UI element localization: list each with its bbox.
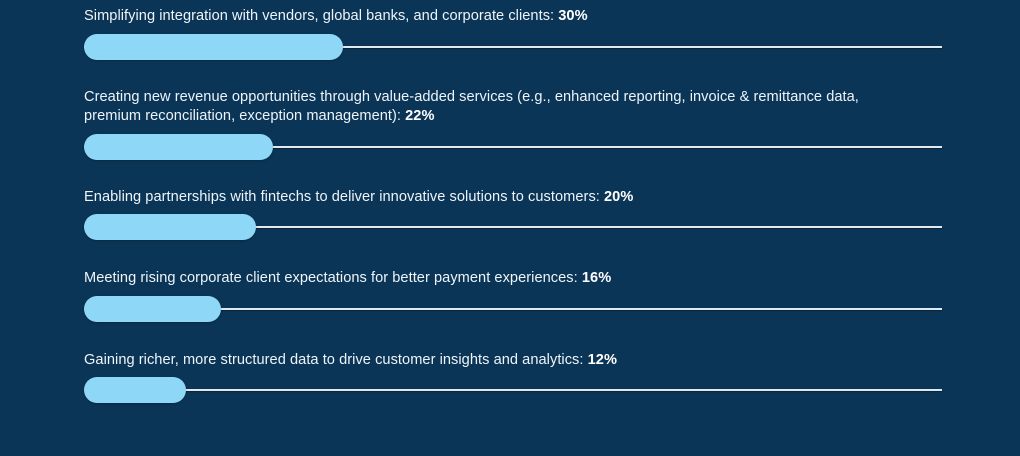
bar-track-wrap bbox=[84, 377, 942, 403]
bar-track-wrap bbox=[84, 214, 942, 240]
bar-fill bbox=[84, 296, 221, 322]
bar-label-text: Gaining richer, more structured data to … bbox=[84, 352, 588, 368]
bar-item: Creating new revenue opportunities throu… bbox=[84, 88, 942, 160]
bar-track-wrap bbox=[84, 34, 942, 60]
bar-item: Meeting rising corporate client expectat… bbox=[84, 269, 942, 322]
bar-label: Enabling partnerships with fintechs to d… bbox=[84, 188, 942, 208]
bar-track-wrap bbox=[84, 134, 942, 160]
bar-label: Gaining richer, more structured data to … bbox=[84, 351, 942, 371]
bar-label-text: Meeting rising corporate client expectat… bbox=[84, 270, 582, 286]
bar-item: Simplifying integration with vendors, gl… bbox=[84, 7, 942, 60]
bar-value-label: 30% bbox=[558, 8, 587, 24]
bar-value-label: 12% bbox=[588, 352, 617, 368]
bar-fill bbox=[84, 34, 343, 60]
bar-value-label: 20% bbox=[604, 189, 633, 205]
bar-list: Simplifying integration with vendors, gl… bbox=[84, 0, 942, 403]
bar-value-label: 22% bbox=[405, 108, 434, 124]
bar-track bbox=[84, 389, 942, 391]
bar-track-wrap bbox=[84, 296, 942, 322]
bar-item: Gaining richer, more structured data to … bbox=[84, 351, 942, 404]
bar-fill bbox=[84, 134, 273, 160]
horizontal-bar-chart: Simplifying integration with vendors, gl… bbox=[0, 0, 1020, 456]
bar-fill bbox=[84, 214, 256, 240]
bar-label: Meeting rising corporate client expectat… bbox=[84, 269, 942, 289]
bar-label-text: Enabling partnerships with fintechs to d… bbox=[84, 189, 604, 205]
bar-label-text-line2: premium reconciliation, exception manage… bbox=[84, 108, 405, 124]
bar-label: Simplifying integration with vendors, gl… bbox=[84, 7, 942, 27]
bar-item: Enabling partnerships with fintechs to d… bbox=[84, 188, 942, 241]
bar-fill bbox=[84, 377, 186, 403]
bar-label-text-line1: Creating new revenue opportunities throu… bbox=[84, 89, 859, 105]
bar-label-text: Simplifying integration with vendors, gl… bbox=[84, 8, 558, 24]
bar-label: Creating new revenue opportunities throu… bbox=[84, 88, 942, 127]
bar-value-label: 16% bbox=[582, 270, 611, 286]
